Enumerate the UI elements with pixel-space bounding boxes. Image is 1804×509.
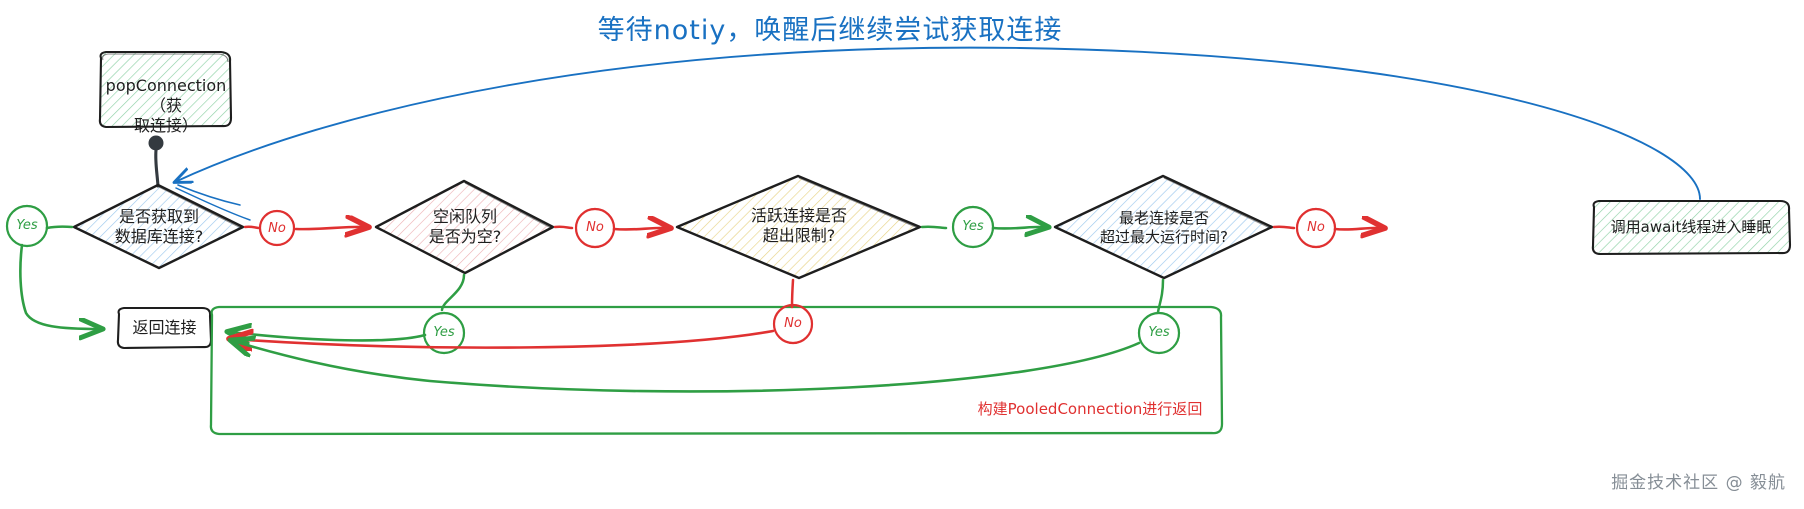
watermark: 掘金技术社区 @ 毅航 (1611, 468, 1786, 493)
edge-label-decision1-yes: Yes (9, 218, 45, 233)
flowchart-svg (0, 0, 1804, 509)
edge-decision4-yes (233, 280, 1182, 391)
node-decision1[interactable] (74, 185, 243, 268)
node-await[interactable] (1593, 201, 1790, 254)
diagram-canvas: 等待notiy，唤醒后继续尝试获取连接 popConnection（获 取连接）… (0, 0, 1804, 509)
edge-start-to-decision1 (149, 136, 164, 187)
node-return-connection[interactable] (118, 308, 211, 348)
edge-label-decision3-no: No (778, 316, 808, 331)
edge-label-decision1-no: No (262, 221, 292, 236)
edge-decision2-no (555, 206, 668, 249)
node-decision3[interactable] (677, 176, 920, 278)
edge-decision3-no (232, 280, 815, 348)
edge-label-decision4-no: No (1301, 220, 1331, 235)
pooled-connection-note: 构建PooledConnection进行返回 (965, 398, 1215, 419)
edge-label-decision2-yes: Yes (426, 325, 462, 340)
node-start[interactable] (100, 52, 231, 127)
edge-label-decision3-yes: Yes (955, 219, 991, 234)
edge-await-back-to-decision1 (175, 48, 1700, 220)
node-decision4[interactable] (1055, 176, 1272, 278)
edge-label-decision2-no: No (580, 220, 610, 235)
edge-label-decision4-yes: Yes (1141, 325, 1177, 340)
node-decision2[interactable] (376, 181, 553, 273)
diagram-title: 等待notiy，唤醒后继续尝试获取连接 (560, 8, 1100, 47)
